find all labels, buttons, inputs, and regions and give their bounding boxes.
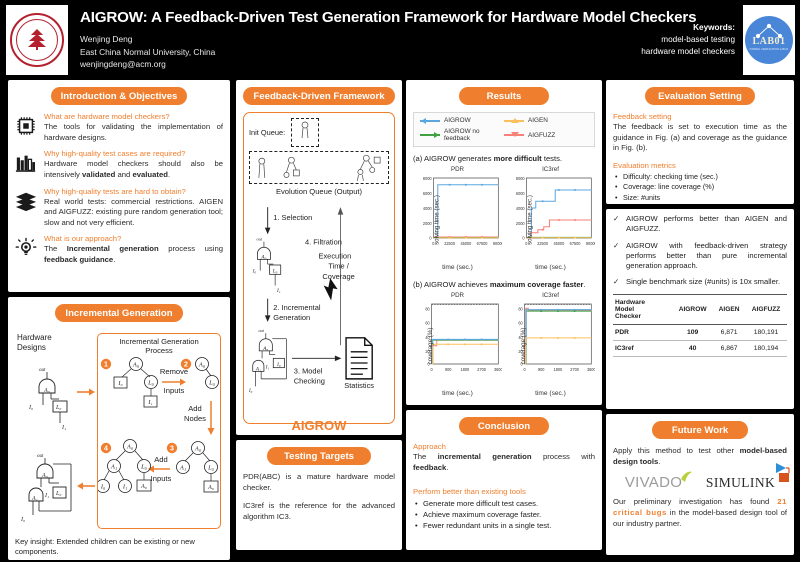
svg-text:22500: 22500: [444, 241, 456, 246]
list-item: Difficulty: checking time (sec.): [615, 172, 787, 182]
svg-text:6000: 6000: [516, 191, 525, 196]
lab-logo: LAB01 FORMAL VERIFICATION LAB 01: [743, 5, 795, 75]
tool-logos-row: VIVADO SIMULINK: [613, 474, 787, 491]
list-item: Coverage: line coverage (%): [615, 182, 787, 192]
chart-a-ic3ref-plot: 8000 6000 4000 2000 0 022500 45000675009…: [506, 174, 595, 258]
svg-text:1800: 1800: [554, 367, 563, 372]
conclusion-approach-heading: Approach: [413, 442, 595, 451]
section-title-incremental: Incremental Generation: [55, 304, 182, 322]
svg-text:2: 2: [184, 361, 188, 368]
author-name: Wenjing Deng: [80, 33, 641, 46]
init-queue-box: [291, 118, 319, 147]
incremental-generation-panel: Incremental Generation HardwareDesigns o…: [8, 297, 230, 560]
poster-columns: Introduction & Objectives: [0, 80, 800, 562]
table-row: PDR 109 6,871 180,191: [613, 324, 787, 340]
book-stack-icon-glyph: [15, 190, 37, 212]
table-cell-aigen: 6,871: [713, 324, 745, 340]
svg-text:80: 80: [518, 306, 523, 311]
svg-text:2000: 2000: [423, 221, 432, 226]
keyword-item-2: hardware model checkers: [641, 46, 735, 58]
conclusion-panel: Conclusion Approach The incremental gene…: [406, 410, 602, 550]
svg-text:1: 1: [104, 361, 108, 368]
charts-row-a: solving time (sec.) PDR 8000 6000 4000 2…: [413, 166, 595, 274]
legend-label-aigfuzz: AIGFUZZ: [528, 132, 555, 139]
svg-text:I₀: I₀: [249, 388, 253, 394]
svg-text:L₀: L₀: [55, 491, 61, 497]
svg-text:I₁: I₁: [61, 425, 66, 431]
table-header-aigrow: AIGROW: [672, 294, 713, 324]
svg-text:A₀: A₀: [43, 388, 50, 394]
feedback-setting-heading: Feedback setting: [613, 112, 787, 121]
intro-question-4: What is our approach?: [44, 234, 223, 243]
svg-text:3600: 3600: [494, 367, 502, 372]
framework-flow: 1. Selection 4. Filtration Execution Tim…: [249, 198, 389, 416]
svg-text:I₁: I₁: [265, 365, 270, 371]
svg-text:0: 0: [429, 235, 432, 240]
intro-item: Why high-quality test cases are required…: [15, 149, 223, 180]
arrow-right-to-process: [77, 387, 95, 397]
svg-text:80: 80: [425, 306, 430, 311]
svg-text:I₀: I₀: [100, 484, 105, 491]
svg-text:4: 4: [104, 445, 108, 452]
table-row: IC3ref 40 6,867 180,194: [613, 340, 787, 356]
svg-text:8000: 8000: [423, 176, 432, 181]
svg-text:A₁: A₁: [110, 464, 117, 471]
svg-text:I₀: I₀: [20, 517, 25, 523]
svg-text:900: 900: [538, 367, 545, 372]
svg-text:I₁: I₁: [44, 493, 49, 499]
svg-text:6000: 6000: [423, 191, 432, 196]
svg-text:A₀: A₀: [262, 346, 268, 352]
header-text-block: AIGROW: A Feedback-Driven Test Generatio…: [68, 9, 641, 71]
incremental-diagram: HardwareDesigns out A₀ I₀ L₀: [15, 329, 223, 535]
section-title-introduction: Introduction & Objectives: [51, 87, 188, 105]
svg-text:A₀: A₀: [132, 362, 139, 369]
hardware-design-circuit-bottom: out A₀ A₁ L₀ I₁: [19, 449, 85, 529]
simulink-logo: SIMULINK: [706, 475, 775, 491]
svg-text:L₀: L₀: [147, 380, 154, 387]
intro-item: What is our approach? The Incremental ge…: [15, 234, 223, 265]
svg-text:8000: 8000: [516, 176, 525, 181]
svg-text:67500: 67500: [570, 241, 582, 246]
chip-icon-glyph: [15, 115, 37, 137]
svg-text:L₀: L₀: [207, 465, 214, 472]
section-title-testing-targets: Testing Targets: [267, 447, 371, 465]
svg-text:22500: 22500: [537, 241, 549, 246]
chart-a-ic3ref: solving time (sec.) IC3ref 8000 6000 400…: [506, 166, 595, 274]
table-cell-name: IC3ref: [613, 340, 672, 356]
svg-text:A₀: A₀: [198, 362, 205, 369]
svg-text:3: 3: [170, 445, 174, 452]
list-item: Achieve maximum coverage faster.: [415, 509, 595, 520]
svg-text:A₀: A₀: [194, 446, 201, 453]
results-legend: AIGROW AIGEN AIGROW no feedback AIGFUZZ: [413, 112, 595, 147]
svg-text:I₀: I₀: [276, 362, 281, 368]
charts-row-b: coverage (%) PDR 80 60 40 20 0: [413, 292, 595, 400]
list-item: Fewer redundant units in a single test.: [415, 520, 595, 531]
finding-item-3: ✓ Single benchmark size (#units) is 10x …: [613, 277, 787, 287]
book-stack-icon: [15, 187, 38, 217]
keyword-item-1: model-based testing: [641, 34, 735, 46]
lightbulb-icon: [15, 234, 38, 264]
chart-b-pdr: coverage (%) PDR 80 60 40 20 0: [413, 292, 502, 400]
column-3: Results AIGROW AIGEN AIGROW no feedback: [406, 80, 602, 562]
svg-text:A₀: A₀: [140, 483, 147, 490]
svg-text:60: 60: [518, 321, 523, 326]
svg-text:Coverage: Coverage: [322, 272, 354, 281]
legend-label-aigen: AIGEN: [528, 117, 548, 124]
svg-text:I₀: I₀: [252, 268, 257, 274]
svg-text:out: out: [256, 237, 262, 242]
vivado-logo: VIVADO: [625, 474, 682, 491]
legend-marker-aigen: [504, 118, 524, 124]
evaluation-setting-panel: Evaluation Setting Feedback setting The …: [606, 80, 794, 204]
list-item: Size: #units: [615, 193, 787, 203]
results-table: Hardware Model Checker AIGROW AIGEN AIGF…: [613, 294, 787, 357]
legend-item-aigen: AIGEN: [504, 117, 588, 124]
network-graph-icon: [745, 22, 793, 40]
conclusion-perform-heading: Perform better than existing tools: [413, 487, 595, 496]
ecnu-tree-glyph: [22, 25, 52, 55]
svg-text:L₀: L₀: [272, 268, 278, 274]
svg-text:I₁: I₁: [276, 288, 281, 294]
svg-text:45000: 45000: [553, 241, 565, 246]
books-shelf-icon: [15, 149, 38, 179]
chart-b-ic3ref-ylabel: coverage (%): [520, 328, 527, 365]
table-cell-name: PDR: [613, 324, 672, 340]
chart-b-pdr-ylabel: coverage (%): [427, 328, 434, 365]
chart-b-pdr-xlabel: time (sec.): [413, 390, 502, 397]
svg-text:Nodes: Nodes: [184, 414, 206, 423]
chart-a-pdr-plot: 8000 6000 4000 2000 0 022500 45000675009…: [413, 174, 502, 258]
section-title-future-work: Future Work: [652, 421, 748, 439]
svg-text:L₀: L₀: [140, 464, 147, 471]
findings-panel: ✓ AIGROW performs better than AIGEN and …: [606, 209, 794, 409]
chart-b-ic3ref: coverage (%) IC3ref 80 60 40 20 0: [506, 292, 595, 400]
legend-label-aigrow-nofeedback: AIGROW no feedback: [444, 128, 504, 142]
svg-text:0: 0: [522, 235, 525, 240]
intro-answer-4: The Incremental generation process using…: [44, 244, 223, 265]
key-insight-text: Key insight: Extended children can be ex…: [15, 537, 223, 558]
legend-marker-aigrow: [420, 118, 440, 124]
svg-text:2000: 2000: [516, 221, 525, 226]
author-email: wenjingdeng@acm.org: [80, 58, 641, 71]
chart-a-ic3ref-title: IC3ref: [506, 166, 595, 173]
framework-flow-diagram: 1. Selection 4. Filtration Execution Tim…: [249, 198, 389, 416]
hardware-designs-label: HardwareDesigns: [17, 333, 52, 352]
framework-brand-label: AIGROW: [249, 418, 389, 433]
evolution-queue-box: [249, 151, 389, 184]
intro-question-2: Why high-quality test cases are required…: [44, 149, 223, 158]
intro-answer-2: Hardware model checkers should also be i…: [44, 159, 223, 180]
table-header-checker: Hardware Model Checker: [613, 294, 672, 324]
incremental-process-label: Incremental GenerationProcess: [98, 334, 220, 355]
svg-text:Time /: Time /: [328, 262, 349, 271]
aig-tiny-icon: [298, 120, 312, 140]
legend-marker-aigfuzz: [504, 132, 524, 138]
lightbulb-icon-glyph: [15, 237, 37, 259]
books-shelf-icon-glyph: [15, 152, 37, 174]
svg-text:0: 0: [523, 367, 526, 372]
svg-text:I₁: I₁: [147, 399, 152, 406]
ecnu-university-logo: [6, 5, 68, 75]
evolution-queue-items: [250, 152, 388, 185]
chip-icon: [15, 112, 38, 142]
legend-marker-aigrow-nofeedback: [420, 132, 440, 138]
init-queue-label: Init Queue:: [249, 128, 285, 137]
table-cell-aigen: 6,867: [713, 340, 745, 356]
svg-text:Execution: Execution: [318, 251, 351, 260]
introduction-panel: Introduction & Objectives: [8, 80, 230, 292]
simulink-logo-text: SIMULINK: [706, 475, 775, 490]
svg-text:out: out: [37, 454, 44, 459]
lab-logo-subtitle: FORMAL VERIFICATION LAB 01: [750, 48, 789, 52]
future-work-text-1: Apply this method to test other model-ba…: [613, 446, 787, 467]
svg-text:Generation: Generation: [273, 313, 310, 322]
lab-logo-circle: LAB01 FORMAL VERIFICATION LAB 01: [745, 16, 793, 64]
finding-item-2: ✓ AIGROW with feedback-driven strategy p…: [613, 241, 787, 272]
init-queue-row: Init Queue:: [249, 118, 389, 147]
svg-text:A₀: A₀: [41, 473, 48, 479]
testing-target-pdr: PDR(ABC) is a mature hardware model chec…: [243, 472, 395, 493]
svg-text:900: 900: [445, 367, 452, 372]
svg-text:90000: 90000: [493, 241, 502, 246]
svg-text:L₀: L₀: [208, 380, 215, 387]
intro-answer-1: The tools for validating the implementat…: [44, 122, 223, 143]
svg-text:A₁: A₁: [31, 496, 38, 502]
svg-text:67500: 67500: [477, 241, 489, 246]
svg-text:1. Selection: 1. Selection: [273, 213, 312, 222]
table-header-aigfuzz: AIGFUZZ: [745, 294, 787, 324]
section-title-framework: Feedback-Driven Framework: [243, 87, 394, 105]
table-header-row: Hardware Model Checker AIGROW AIGEN AIGF…: [613, 294, 787, 324]
vivado-logo-text: VIVADO: [625, 474, 682, 491]
svg-text:2700: 2700: [570, 367, 579, 372]
section-title-conclusion: Conclusion: [459, 417, 549, 435]
results-caption-b: (b) AIGROW achieves maximum coverage fas…: [413, 280, 595, 289]
column-1: Introduction & Objectives: [8, 80, 230, 562]
finding-text-2: AIGROW with feedback-driven strategy per…: [626, 241, 787, 272]
section-title-results: Results: [459, 87, 549, 105]
ecnu-seal-icon: [10, 13, 64, 67]
incremental-steps-diagram: 1 A₀ I₀ L₀ I₁: [98, 356, 220, 528]
future-work-panel: Future Work Apply this method to test ot…: [606, 414, 794, 555]
check-icon: ✓: [613, 241, 621, 272]
legend-item-aigrow: AIGROW: [420, 117, 504, 124]
svg-text:4000: 4000: [516, 206, 525, 211]
check-icon: ✓: [613, 277, 621, 287]
svg-text:A₀: A₀: [207, 484, 214, 491]
chart-b-pdr-title: PDR: [413, 292, 502, 299]
svg-text:3. Model: 3. Model: [294, 366, 323, 375]
svg-text:I₀: I₀: [117, 380, 122, 387]
svg-text:out: out: [39, 368, 46, 373]
svg-text:A₀: A₀: [260, 254, 266, 260]
keywords-label: Keywords:: [641, 22, 735, 34]
svg-text:60: 60: [425, 321, 430, 326]
svg-text:I₀: I₀: [28, 405, 33, 411]
svg-text:2700: 2700: [477, 367, 486, 372]
chart-a-pdr-title: PDR: [413, 166, 502, 173]
finding-text-1: AIGROW performs better than AIGEN and AI…: [626, 214, 787, 235]
finding-item-1: ✓ AIGROW performs better than AIGEN and …: [613, 214, 787, 235]
legend-item-aigrow-nofeedback: AIGROW no feedback: [420, 128, 504, 142]
evaluation-metrics-list: Difficulty: checking time (sec.) Coverag…: [615, 172, 787, 203]
chart-b-ic3ref-title: IC3ref: [506, 292, 595, 299]
svg-text:Add: Add: [188, 404, 202, 413]
svg-text:out: out: [258, 328, 264, 333]
svg-text:L₀: L₀: [55, 405, 61, 411]
page-title: AIGROW: A Feedback-Driven Test Generatio…: [80, 9, 641, 26]
column-4: Evaluation Setting Feedback setting The …: [606, 80, 794, 562]
svg-text:Checking: Checking: [294, 377, 325, 386]
svg-text:I₁: I₁: [122, 484, 127, 491]
intro-answer-3: Real world tests: commercial restriction…: [44, 197, 223, 229]
arrow-left-from-process: [77, 481, 95, 491]
conclusion-bullets: Generate more difficult test cases. Achi…: [415, 498, 595, 531]
table-cell-aigrow: 109: [672, 324, 713, 340]
chart-a-pdr: solving time (sec.) PDR 8000 6000 4000 2…: [413, 166, 502, 274]
vivado-mark-icon: [680, 470, 693, 483]
poster-header: AIGROW: A Feedback-Driven Test Generatio…: [0, 0, 800, 80]
keywords-block: Keywords: model-based testing hardware m…: [641, 22, 743, 59]
future-work-text-2: Our preliminary investigation has found …: [613, 497, 787, 529]
framework-panel: Feedback-Driven Framework Init Queue:: [236, 80, 402, 435]
svg-text:Inputs: Inputs: [151, 474, 172, 483]
svg-text:3600: 3600: [587, 367, 595, 372]
chart-a-pdr-ylabel: solving time (sec.): [433, 195, 440, 245]
table-cell-aigfuzz: 180,194: [745, 340, 787, 356]
finding-text-3: Single benchmark size (#units) is 10x sm…: [626, 277, 780, 287]
hardware-design-circuit-top: out A₀ I₀ L₀ I₁: [23, 363, 81, 435]
author-affiliation: East China Normal University, China: [80, 46, 641, 59]
evolution-queue-label: Evolution Queue (Output): [249, 187, 389, 196]
intro-item: Why high-quality tests are hard to obtai…: [15, 187, 223, 229]
svg-text:Statistics: Statistics: [344, 381, 374, 390]
column-2: Feedback-Driven Framework Init Queue:: [236, 80, 402, 562]
svg-text:2. Incremental: 2. Incremental: [273, 303, 321, 312]
testing-targets-panel: Testing Targets PDR(ABC) is a mature har…: [236, 440, 402, 550]
chart-a-ic3ref-ylabel: solving time (sec.): [526, 195, 533, 245]
framework-diagram-box: Init Queue:: [243, 112, 395, 424]
table-cell-aigrow: 40: [672, 340, 713, 356]
simulink-mark-icon: [775, 463, 791, 483]
incremental-process-box: Incremental GenerationProcess 1 A₀ I₀: [97, 333, 221, 529]
svg-text:45000: 45000: [460, 241, 472, 246]
results-panel: Results AIGROW AIGEN AIGROW no feedback: [406, 80, 602, 405]
chart-a-ic3ref-xlabel: time (sec.): [506, 264, 595, 271]
evaluation-metrics-heading: Evaluation metrics: [613, 161, 787, 170]
check-icon: ✓: [613, 214, 621, 235]
svg-text:A₁: A₁: [179, 465, 186, 472]
feedback-setting-text: The feedback is set to execution time as…: [613, 122, 787, 154]
table-cell-aigfuzz: 180,191: [745, 324, 787, 340]
chart-a-pdr-xlabel: time (sec.): [413, 264, 502, 271]
legend-label-aigrow: AIGROW: [444, 117, 471, 124]
intro-item: What are hardware model checkers? The to…: [15, 112, 223, 143]
intro-question-3: Why high-quality tests are hard to obtai…: [44, 187, 223, 196]
svg-text:4000: 4000: [423, 206, 432, 211]
list-item: Generate more difficult test cases.: [415, 498, 595, 509]
svg-text:90000: 90000: [586, 241, 595, 246]
table-header-aigen: AIGEN: [713, 294, 745, 324]
poster-root: AIGROW: A Feedback-Driven Test Generatio…: [0, 0, 800, 562]
conclusion-approach-text: The incremental generation process with …: [413, 452, 595, 473]
svg-text:A₀: A₀: [126, 444, 133, 451]
intro-question-1: What are hardware model checkers?: [44, 112, 223, 121]
legend-item-aigfuzz: AIGFUZZ: [504, 128, 588, 142]
results-caption-a: (a) AIGROW generates more difficult test…: [413, 154, 595, 163]
testing-target-ic3ref: IC3ref is the reference for the advanced…: [243, 501, 395, 522]
svg-text:Add: Add: [154, 455, 168, 464]
svg-text:0: 0: [430, 367, 433, 372]
chart-b-ic3ref-xlabel: time (sec.): [506, 390, 595, 397]
svg-text:1800: 1800: [461, 367, 470, 372]
svg-text:4. Filtration: 4. Filtration: [305, 237, 342, 246]
svg-text:Inputs: Inputs: [164, 386, 185, 395]
section-title-evaluation: Evaluation Setting: [645, 87, 755, 105]
